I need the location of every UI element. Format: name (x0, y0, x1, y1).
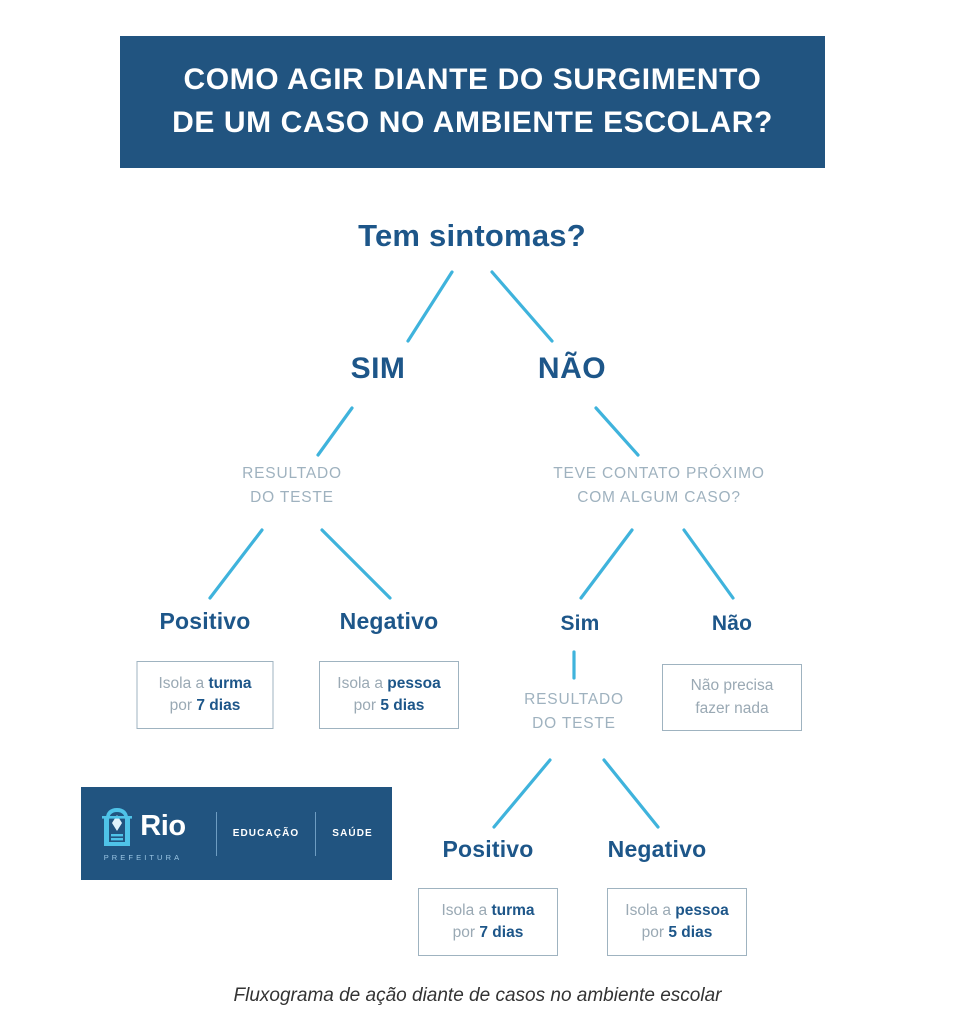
node-contato-sim-question-line2: DO TESTE (524, 712, 624, 736)
node-contato-sim-negativo: Negativo (608, 836, 707, 863)
node-contato-sim: Sim (560, 612, 599, 636)
action-line-1: Isola a pessoa (625, 900, 728, 922)
connector-contato-to-sim (581, 530, 632, 598)
node-branch-sim: SIM (351, 352, 406, 386)
action-line-2: por 7 dias (453, 922, 524, 944)
action-box-contato-sim-negativo: Isola a pessoa por 5 dias (607, 888, 747, 956)
node-sim-negativo: Negativo (340, 608, 439, 635)
rio-coat-of-arms-icon (100, 806, 134, 848)
connector-teste2-to-negativo (604, 760, 658, 827)
node-sim-question: RESULTADO DO TESTE (242, 462, 342, 510)
connector-teste2-to-positivo (494, 760, 550, 827)
logo-divider-2 (315, 812, 316, 856)
connector-contato-to-nao (684, 530, 733, 598)
connector-sim-to-question (318, 408, 352, 455)
node-branch-nao: NÃO (538, 352, 606, 386)
action-line-1: Isola a turma (158, 673, 251, 695)
action-box-sim-positivo: Isola a turma por 7 dias (137, 661, 274, 729)
logo-subtitle: PREFEITURA (100, 853, 186, 862)
connector-nao-to-question (596, 408, 638, 455)
action-line-2: por 5 dias (354, 695, 425, 717)
logo-tag-educacao: EDUCAÇÃO (233, 828, 300, 839)
node-contato-sim-question: RESULTADO DO TESTE (524, 688, 624, 736)
logo-rio-prefeitura: Rio PREFEITURA (100, 806, 186, 862)
action-line-2: por 7 dias (170, 695, 241, 717)
logo-mark-row: Rio (100, 806, 186, 848)
logo-divider-1 (216, 812, 217, 856)
node-nao-question-line2: COM ALGUM CASO? (553, 486, 765, 510)
node-contato-sim-question-line1: RESULTADO (524, 688, 624, 712)
logo-block: Rio PREFEITURA EDUCAÇÃO SAÚDE (81, 787, 392, 880)
header-banner: COMO AGIR DIANTE DO SURGIMENTO DE UM CAS… (120, 36, 825, 168)
action-line-1: Isola a turma (441, 900, 534, 922)
connector-root-to-nao (492, 272, 552, 341)
node-nao-question: TEVE CONTATO PRÓXIMO COM ALGUM CASO? (553, 462, 765, 510)
action-box-contato-nao: Não precisa fazer nada (662, 664, 802, 731)
action-line-2: fazer nada (695, 698, 768, 720)
node-root-question: Tem sintomas? (358, 218, 586, 254)
node-contato-nao: Não (712, 612, 752, 636)
action-line-1: Isola a pessoa (337, 673, 440, 695)
flowchart-page: COMO AGIR DIANTE DO SURGIMENTO DE UM CAS… (0, 0, 955, 1024)
action-box-sim-negativo: Isola a pessoa por 5 dias (319, 661, 459, 729)
connector-teste-to-negativo (322, 530, 390, 598)
logo-tag-saude: SAÚDE (332, 828, 373, 839)
header-title-line1: COMO AGIR DIANTE DO SURGIMENTO (183, 59, 761, 102)
figure-caption: Fluxograma de ação diante de casos no am… (0, 985, 955, 1007)
node-sim-question-line2: DO TESTE (242, 486, 342, 510)
logo-inner: Rio PREFEITURA EDUCAÇÃO SAÚDE (100, 806, 373, 862)
action-line-1: Não precisa (691, 675, 774, 697)
connector-root-to-sim (408, 272, 452, 341)
node-sim-positivo: Positivo (159, 608, 250, 635)
connector-teste-to-positivo (210, 530, 262, 598)
action-line-2: por 5 dias (642, 922, 713, 944)
header-title-line2: DE UM CASO NO AMBIENTE ESCOLAR? (172, 102, 773, 145)
node-sim-question-line1: RESULTADO (242, 462, 342, 486)
action-box-contato-sim-positivo: Isola a turma por 7 dias (418, 888, 558, 956)
node-contato-sim-positivo: Positivo (442, 836, 533, 863)
logo-wordmark: Rio (140, 812, 186, 841)
node-nao-question-line1: TEVE CONTATO PRÓXIMO (553, 462, 765, 486)
